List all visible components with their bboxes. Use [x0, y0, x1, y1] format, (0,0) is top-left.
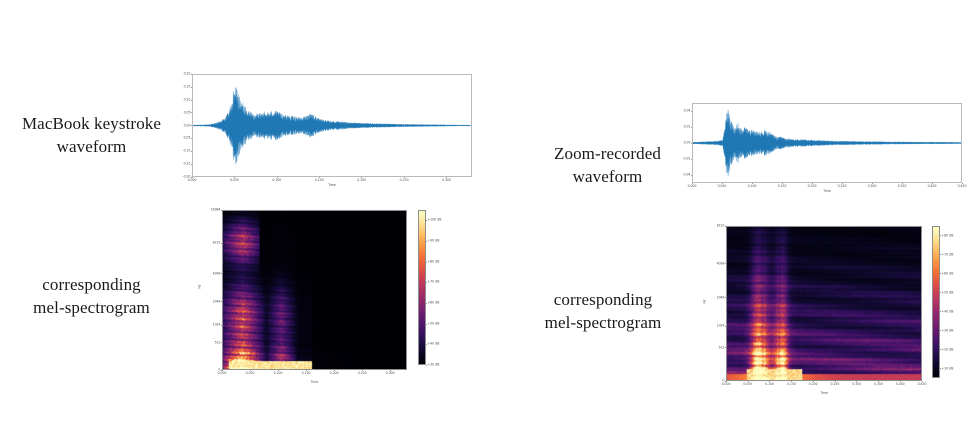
colorbar-macbook-mel — [418, 210, 426, 365]
colorbar-zoom-mel — [932, 226, 940, 378]
y-axis-tick-label: 4096 — [709, 262, 725, 265]
x-axis-tick-label: 0.200 — [808, 185, 817, 188]
x-axis-tick-label: 0.300 — [868, 185, 877, 188]
colorbar-tick-label: +30 dB — [428, 363, 440, 366]
colorbar-gradient — [933, 227, 939, 377]
plot-area-macbook-waveform — [192, 74, 472, 177]
x-axis-tick-label: 0.100 — [274, 372, 283, 375]
colorbar-tick-label: +40 dB — [428, 343, 440, 346]
plot-area-zoom-mel-spectrogram — [726, 226, 922, 381]
figure-macbook-mel-spectrogram: 0512102420484096819216384 0.0000.0500.10… — [196, 205, 461, 395]
y-axis-tick-label: 0.15 — [177, 85, 191, 88]
mel-spectrogram-image-macbook — [223, 211, 406, 369]
mel-spectrogram-image-zoom — [727, 227, 921, 380]
x-axis-tick-label: 0.450 — [958, 185, 967, 188]
x-axis-tick-label: 0.150 — [787, 383, 796, 386]
y-axis-tick-label: 0.02 — [677, 125, 691, 128]
y-axis-tick-label: 0.20 — [177, 72, 191, 75]
y-axis-tick-label: 2048 — [709, 296, 725, 299]
colorbar-tick-label: +80 dB — [942, 234, 954, 237]
y-axis-tick-label: -0.02 — [677, 157, 691, 160]
y-axis-tick-label: 0.10 — [177, 98, 191, 101]
x-axis-tick-label: 0.250 — [838, 185, 847, 188]
x-axis-tick-label: 0.400 — [928, 185, 937, 188]
plot-area-macbook-mel-spectrogram — [222, 210, 407, 370]
x-axis-title-zoom-mel: Time — [726, 392, 922, 395]
y-axis-tick-label: 16384 — [205, 208, 221, 211]
colorbar-tick-label: +50 dB — [428, 322, 440, 325]
caption-line-1: Zoom-recorded — [515, 143, 700, 166]
x-axis-tick-label: 0.250 — [400, 179, 409, 182]
caption-line-2: waveform — [515, 166, 700, 189]
y-axis-tick-label: 8192 — [205, 241, 221, 244]
waveform-trace-macbook — [193, 75, 471, 176]
x-axis-tick-label: 0.300 — [442, 179, 451, 182]
x-axis-tick-label: 0.250 — [358, 372, 367, 375]
caption-zoom-mel-spectrogram: corresponding mel-spectrogram — [508, 289, 698, 335]
x-axis-tick-label: 0.050 — [718, 185, 727, 188]
caption-macbook-waveform: MacBook keystroke waveform — [4, 113, 179, 159]
y-axis-tick-label: 1024 — [205, 323, 221, 326]
x-axis-tick-label: 0.200 — [330, 372, 339, 375]
caption-line-2: waveform — [4, 136, 179, 159]
y-axis-title-zoom-mel: Hz — [703, 292, 706, 312]
x-axis-tick-label: 0.000 — [218, 372, 227, 375]
caption-line-1: corresponding — [508, 289, 698, 312]
colorbar-tick-label: +70 dB — [428, 281, 440, 284]
y-axis-tick-label: 4096 — [205, 272, 221, 275]
x-axis-tick-label: 0.000 — [722, 383, 731, 386]
caption-zoom-waveform: Zoom-recorded waveform — [515, 143, 700, 189]
plot-area-zoom-waveform — [692, 103, 962, 183]
colorbar-tick-label: +70 dB — [942, 253, 954, 256]
x-axis-title-zoom-waveform: Time — [692, 190, 962, 193]
y-axis-tick-label: -0.05 — [177, 137, 191, 140]
x-axis-tick-label: 0.100 — [748, 185, 757, 188]
x-axis-tick-label: 0.300 — [386, 372, 395, 375]
colorbar-tick-label: +50 dB — [942, 291, 954, 294]
x-axis-tick-label: 0.350 — [874, 383, 883, 386]
caption-line-2: mel-spectrogram — [4, 297, 179, 320]
y-axis-tick-label: -0.10 — [177, 150, 191, 153]
x-axis-tick-label: 0.400 — [896, 383, 905, 386]
colorbar-tick-label: +60 dB — [942, 272, 954, 275]
y-axis-tick-label: 1024 — [709, 324, 725, 327]
x-axis-tick-label: 0.150 — [778, 185, 787, 188]
x-axis-tick-label: 0.000 — [688, 185, 697, 188]
y-axis-tick-label: -0.15 — [177, 163, 191, 166]
colorbar-tick-label: +60 dB — [428, 301, 440, 304]
x-axis-tick-label: 0.450 — [918, 383, 927, 386]
colorbar-tick-label: +90 dB — [428, 239, 440, 242]
x-axis-tick-label: 0.150 — [315, 179, 324, 182]
y-axis-tick-label: 8192 — [709, 224, 725, 227]
x-axis-tick-label: 0.100 — [272, 179, 281, 182]
colorbar-tick-label: +10 dB — [942, 367, 954, 370]
colorbar-tick-label: +20 dB — [942, 348, 954, 351]
caption-macbook-mel-spectrogram: corresponding mel-spectrogram — [4, 274, 179, 320]
x-axis-tick-label: 0.350 — [898, 185, 907, 188]
y-axis-tick-label: 0.05 — [177, 111, 191, 114]
waveform-trace-zoom — [693, 104, 961, 182]
y-axis-tick-label: 512 — [205, 341, 221, 344]
x-axis-tick-label: 0.050 — [743, 383, 752, 386]
figure-zoom-mel-spectrogram: 05121024204840968192 0.0000.0500.1000.15… — [696, 220, 964, 405]
x-axis-title-macbook-mel: Time — [222, 381, 407, 384]
caption-line-1: MacBook keystroke — [4, 113, 179, 136]
x-axis-tick-label: 0.050 — [230, 179, 239, 182]
x-axis-tick-label: 0.100 — [765, 383, 774, 386]
colorbar-tick-label: +40 dB — [942, 310, 954, 313]
colorbar-gradient — [419, 211, 425, 364]
y-axis-tick-label: 0.04 — [677, 109, 691, 112]
colorbar-tick-label: +80 dB — [428, 260, 440, 263]
x-axis-tick-label: 0.250 — [830, 383, 839, 386]
x-axis-tick-label: 0.200 — [357, 179, 366, 182]
colorbar-tick-label: +30 dB — [942, 329, 954, 332]
caption-line-1: corresponding — [4, 274, 179, 297]
x-axis-tick-label: 0.200 — [809, 383, 818, 386]
y-axis-tick-label: -0.04 — [677, 173, 691, 176]
figure-macbook-waveform: 0.200.150.100.050.00-0.05-0.10-0.15-0.20… — [176, 70, 476, 190]
colorbar-tick-label: +100 dB — [428, 219, 442, 222]
x-axis-tick-label: 0.050 — [246, 372, 255, 375]
y-axis-tick-label: 0.00 — [177, 124, 191, 127]
y-axis-tick-label: 512 — [709, 346, 725, 349]
figure-zoom-waveform: 0.040.020.00-0.02-0.04 0.0000.0500.1000.… — [676, 100, 966, 196]
y-axis-tick-label: 0.00 — [677, 141, 691, 144]
x-axis-tick-label: 0.300 — [852, 383, 861, 386]
x-axis-tick-label: 0.000 — [188, 179, 197, 182]
y-axis-tick-label: 2048 — [205, 300, 221, 303]
x-axis-tick-label: 0.150 — [302, 372, 311, 375]
x-axis-title-macbook-waveform: Time — [192, 184, 472, 187]
y-axis-title-macbook-mel: Hz — [198, 277, 201, 297]
caption-line-2: mel-spectrogram — [508, 312, 698, 335]
